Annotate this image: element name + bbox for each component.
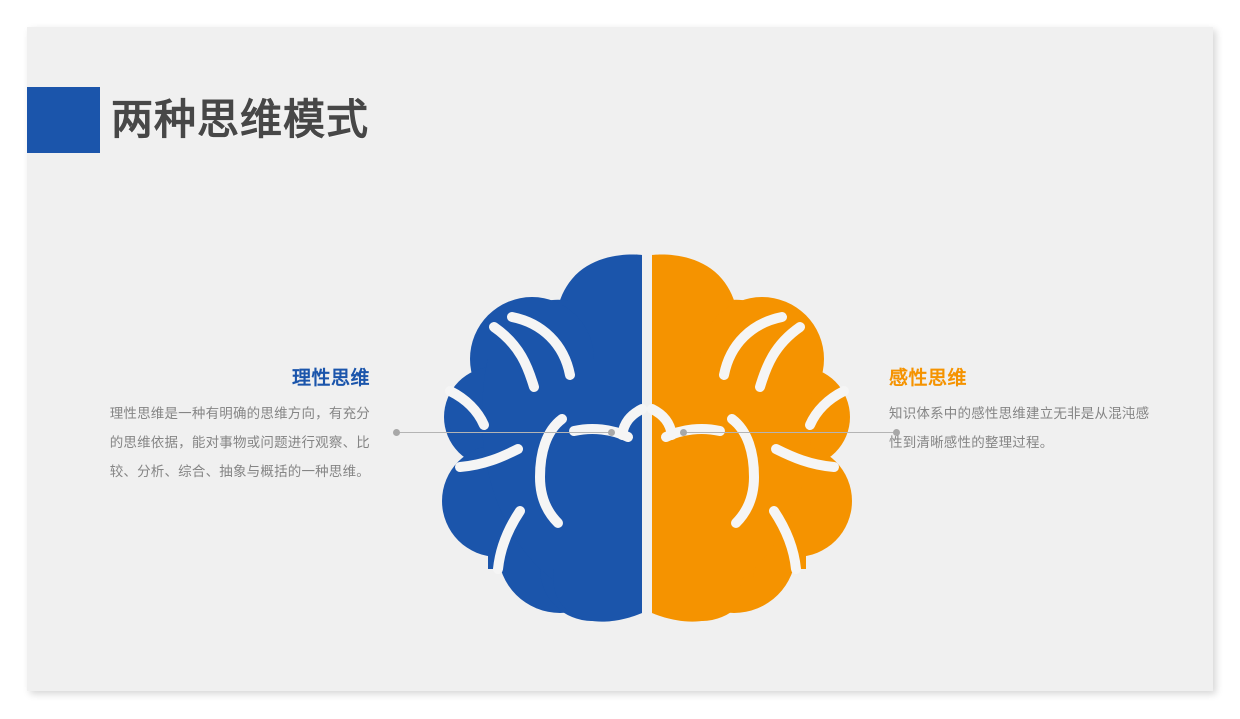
connector-line-left (398, 432, 613, 433)
title-accent-square (27, 87, 100, 153)
panel-left-heading: 理性思维 (108, 368, 370, 391)
connector-dot-left-outer (393, 429, 400, 436)
connector-line-right (684, 432, 898, 433)
panel-left-body: 理性思维是一种有明确的思维方向，有充分的思维依据，能对事物或问题进行观察、比较、… (108, 399, 370, 486)
panel-right-body: 知识体系中的感性思维建立无非是从混沌感性到清晰感性的整理过程。 (889, 399, 1151, 457)
panel-rational-thinking: 理性思维 理性思维是一种有明确的思维方向，有充分的思维依据，能对事物或问题进行观… (108, 368, 370, 486)
brain-left-hemisphere (442, 255, 648, 622)
brain-right-hemisphere (646, 255, 852, 622)
screenshot-canvas: 两种思维模式 (0, 0, 1240, 719)
page-title: 两种思维模式 (111, 99, 369, 141)
brain-illustration (442, 239, 852, 631)
connector-dot-left-inner (608, 429, 615, 436)
slide: 两种思维模式 (27, 27, 1213, 691)
panel-right-heading: 感性思维 (889, 368, 1151, 391)
connector-dot-right-inner (680, 429, 687, 436)
slide-title-block: 两种思维模式 (27, 87, 369, 153)
panel-perceptual-thinking: 感性思维 知识体系中的感性思维建立无非是从混沌感性到清晰感性的整理过程。 (889, 368, 1151, 457)
